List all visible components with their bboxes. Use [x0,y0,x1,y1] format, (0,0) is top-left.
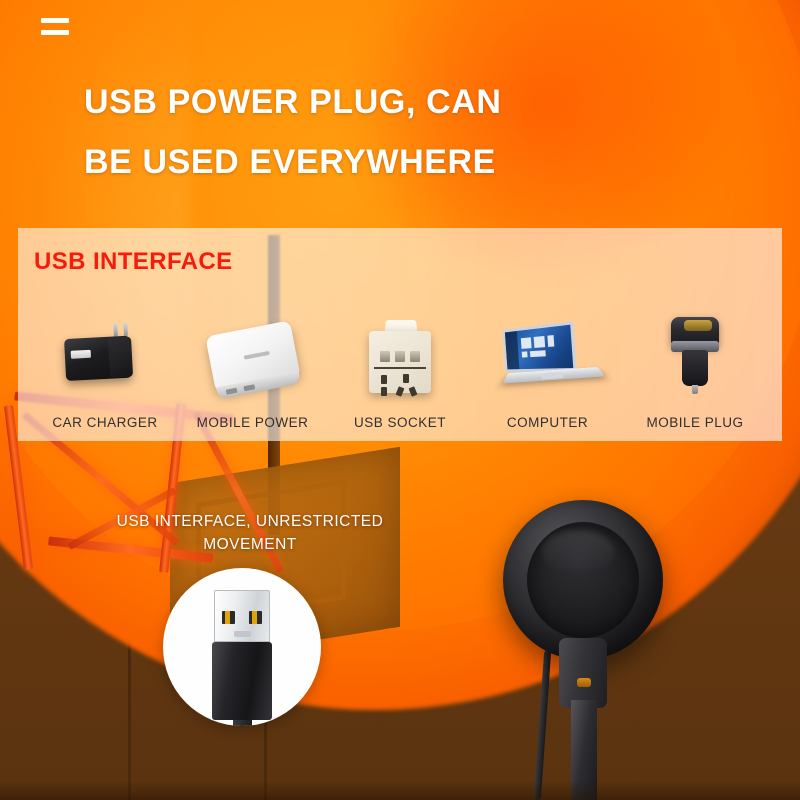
item-label: CAR CHARGER [52,415,157,430]
item-label: USB SOCKET [354,415,446,430]
car-charger-icon [622,307,768,407]
item-label: MOBILE PLUG [646,415,743,430]
compatible-device-list: CAR CHARGER MOBILE POWER [32,280,768,430]
wall-charger-icon [32,307,178,407]
product-banner: USB POWER PLUG, CAN BE USED EVERYWHERE U… [0,0,800,800]
lamp-cable [534,650,551,800]
headline-line-2: BE USED EVERYWHERE [84,132,724,192]
menu-icon-bar [41,30,69,35]
lamp-gloss [541,530,615,574]
item-label: COMPUTER [507,415,588,430]
list-item: MOBILE POWER [180,280,326,430]
usb-type-a-connector-icon [212,590,272,726]
list-item: USB SOCKET [327,280,473,430]
sunset-projection-lamp [487,500,707,800]
list-item: COMPUTER [475,280,621,430]
list-item: CAR CHARGER [32,280,178,430]
item-label: MOBILE POWER [197,415,309,430]
list-item: MOBILE PLUG [622,280,768,430]
lamp-head [503,500,663,660]
laptop-icon [475,307,621,407]
footer-shadow [0,780,800,800]
wall-socket-icon [327,307,473,407]
panel-title: USB INTERFACE [34,248,233,276]
caption-line-2: MOVEMENT [203,536,297,553]
menu-icon-bar [41,18,69,23]
lamp-adjust-knob [577,678,591,687]
caption-line-1: USB INTERFACE, UNRESTRICTED [117,513,384,530]
menu-icon[interactable] [41,18,69,35]
feature-caption: USB INTERFACE, UNRESTRICTED MOVEMENT [100,510,400,556]
usb-connector-callout [163,568,321,726]
page-title: USB POWER PLUG, CAN BE USED EVERYWHERE [84,72,724,192]
usb-interface-panel: USB INTERFACE CAR CHARGER [18,228,782,441]
headline-line-1: USB POWER PLUG, CAN [84,83,502,121]
power-bank-icon [180,307,326,407]
lamp-yoke [559,638,607,708]
